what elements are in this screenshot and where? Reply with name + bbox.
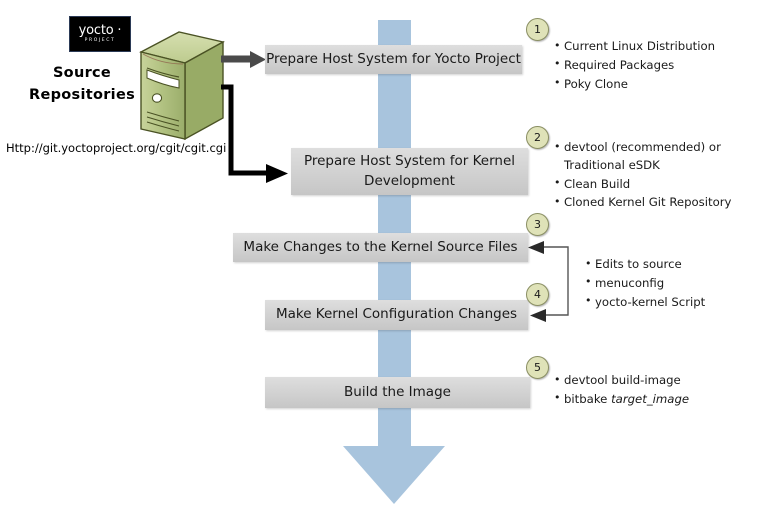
note-item: Clean Build bbox=[564, 176, 731, 194]
note-item-bitbake: bitbake target_image bbox=[564, 391, 689, 409]
step-number: 1 bbox=[534, 23, 541, 36]
process-box-prepare-host-yocto[interactable]: Prepare Host System for Yocto Project bbox=[265, 45, 522, 74]
step-circle-2: 2 bbox=[526, 126, 549, 149]
yocto-logo-wordmark: yocto · bbox=[79, 24, 122, 37]
note-item: Current Linux Distribution bbox=[564, 38, 715, 56]
step-number: 2 bbox=[534, 131, 541, 144]
process-box-build-image[interactable]: Build the Image bbox=[265, 377, 530, 408]
step-3-4-shared-notes: Edits to source menuconfig yocto-kernel … bbox=[581, 256, 705, 312]
step-5-notes: devtool build-image bitbake target_image bbox=[550, 372, 689, 410]
note-item: Poky Clone bbox=[564, 76, 715, 94]
process-box-label: Prepare Host System for Yocto Project bbox=[266, 50, 521, 70]
step-number: 3 bbox=[534, 218, 541, 231]
pipeline-arrow-head bbox=[343, 446, 445, 504]
step-2-notes: devtool (recommended) or Traditional eSD… bbox=[550, 139, 731, 213]
step-number: 5 bbox=[534, 361, 541, 374]
step-number: 4 bbox=[534, 288, 541, 301]
step-1-notes: Current Linux Distribution Required Pack… bbox=[550, 38, 715, 94]
process-box-label: Make Changes to the Kernel Source Files bbox=[243, 238, 517, 258]
yocto-project-logo: yocto · PROJECT bbox=[69, 16, 131, 52]
process-box-label: Make Kernel Configuration Changes bbox=[276, 305, 517, 325]
process-box-make-kernel-source-changes[interactable]: Make Changes to the Kernel Source Files bbox=[233, 233, 528, 262]
note-item: Required Packages bbox=[564, 57, 715, 75]
process-box-label: Prepare Host System for Kernel Developme… bbox=[291, 152, 528, 191]
process-box-make-kernel-config-changes[interactable]: Make Kernel Configuration Changes bbox=[265, 300, 528, 330]
source-repositories-label: Source Repositories bbox=[22, 62, 142, 107]
server-tower-icon bbox=[135, 30, 227, 142]
diagram-canvas: yocto · PROJECT Source Repositories Http… bbox=[0, 0, 769, 517]
process-box-label: Build the Image bbox=[344, 383, 451, 403]
step-circle-4: 4 bbox=[526, 283, 549, 306]
note-item: yocto-kernel Script bbox=[595, 294, 705, 312]
note-item: menuconfig bbox=[595, 275, 705, 293]
note-item: Cloned Kernel Git Repository bbox=[564, 194, 731, 212]
yocto-logo-subtext: PROJECT bbox=[85, 39, 116, 44]
note-item: Edits to source bbox=[595, 256, 705, 274]
source-repository-url: Http://git.yoctoproject.org/cgit/cgit.cg… bbox=[6, 141, 226, 155]
note-item: devtool (recommended) or Traditional eSD… bbox=[564, 139, 724, 175]
source-label-line-2: Repositories bbox=[22, 84, 142, 106]
source-label-line-1: Source bbox=[22, 62, 142, 84]
step-circle-5: 5 bbox=[526, 356, 549, 379]
step-circle-1: 1 bbox=[526, 18, 549, 41]
step-circle-3: 3 bbox=[526, 213, 549, 236]
note-item: devtool build-image bbox=[564, 372, 689, 390]
process-box-prepare-host-kernel[interactable]: Prepare Host System for Kernel Developme… bbox=[291, 148, 528, 195]
note-bitbake-target: target_image bbox=[611, 392, 689, 406]
note-bitbake-prefix: bitbake bbox=[564, 392, 611, 406]
